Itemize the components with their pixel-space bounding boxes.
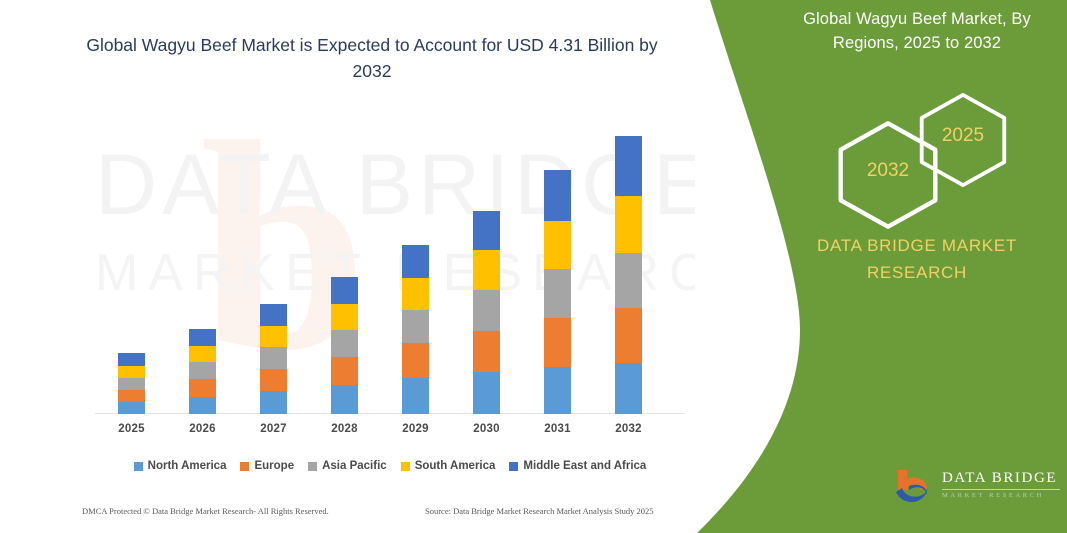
legend-label: Asia Pacific <box>322 460 387 472</box>
bar-2026 <box>189 329 216 414</box>
bar-segment <box>260 391 287 414</box>
legend-swatch-icon <box>308 462 317 471</box>
legend-label: Europe <box>254 460 294 472</box>
bar-segment <box>402 310 429 343</box>
bar-segment <box>331 277 358 304</box>
bar-segment <box>189 362 216 379</box>
bar-segment <box>260 369 287 391</box>
brand-line-2: RESEARCH <box>757 259 1067 286</box>
bar-segment <box>473 372 500 414</box>
legend-item-europe[interactable]: Europe <box>240 460 294 472</box>
bar-segment <box>615 196 642 253</box>
bar-segment <box>473 331 500 372</box>
green-panel-title: Global Wagyu Beef Market, By Regions, 20… <box>782 8 1052 56</box>
bar-segment <box>331 385 358 414</box>
bar-2027 <box>260 304 287 414</box>
logo-sub-text: MARKET RESEARCH <box>942 492 1060 499</box>
legend-label: North America <box>148 460 227 472</box>
legend-swatch-icon <box>509 462 518 471</box>
x-axis-label-2031: 2031 <box>528 423 588 435</box>
brand-line-1: DATA BRIDGE MARKET <box>757 232 1067 259</box>
legend-label: South America <box>415 460 496 472</box>
infographic-page: b DATA BRIDGE MARKET RESEARCH Global Wag… <box>0 0 1067 533</box>
chart-legend: North AmericaEuropeAsia PacificSouth Ame… <box>95 456 685 476</box>
logo-main-text: DATA BRIDGE <box>942 470 1060 487</box>
green-panel-content: Global Wagyu Beef Market, By Regions, 20… <box>687 0 1067 533</box>
x-axis-label-2026: 2026 <box>173 423 233 435</box>
legend-label: Middle East and Africa <box>523 460 646 472</box>
data-bridge-logo: DATA BRIDGE MARKET RESEARCH <box>892 462 1062 514</box>
hexagon-2025: 2025 <box>915 92 1011 188</box>
bar-2032 <box>615 136 642 414</box>
bar-segment <box>189 346 216 362</box>
bar-segment <box>615 136 642 196</box>
bar-segment <box>473 211 500 250</box>
hexagon-2025-label: 2025 <box>915 125 1011 147</box>
stacked-bar-chart <box>95 118 685 414</box>
bar-segment <box>473 250 500 290</box>
bar-segment <box>473 290 500 331</box>
x-axis-label-2029: 2029 <box>386 423 446 435</box>
bar-segment <box>615 363 642 414</box>
bar-segment <box>331 304 358 330</box>
bar-segment <box>402 245 429 278</box>
bar-segment <box>118 402 145 414</box>
x-axis-labels: 20252026202720282029203020312032 <box>95 423 685 443</box>
bar-segment <box>118 366 145 378</box>
bar-segment <box>544 269 571 318</box>
footer-copyright: DMCA Protected © Data Bridge Market Rese… <box>82 506 329 516</box>
legend-item-north-america[interactable]: North America <box>134 460 227 472</box>
bar-2029 <box>402 245 429 414</box>
x-axis-label-2032: 2032 <box>599 423 659 435</box>
bar-segment <box>260 347 287 369</box>
footer-source: Source: Data Bridge Market Research Mark… <box>425 506 654 516</box>
chart-title: Global Wagyu Beef Market is Expected to … <box>72 32 672 85</box>
bar-2025 <box>118 353 145 414</box>
data-bridge-logo-icon <box>892 466 936 510</box>
bar-2030 <box>473 211 500 414</box>
bar-segment <box>544 221 571 269</box>
bar-segment <box>260 304 287 326</box>
bar-2031 <box>544 170 571 414</box>
legend-item-middle-east-and-africa[interactable]: Middle East and Africa <box>509 460 646 472</box>
x-axis-label-2030: 2030 <box>457 423 517 435</box>
logo-divider <box>942 489 1060 490</box>
legend-swatch-icon <box>401 462 410 471</box>
bar-segment <box>615 308 642 363</box>
hexagon-group: 2032 2025 <box>797 92 1047 222</box>
bar-segment <box>260 326 287 347</box>
legend-swatch-icon <box>134 462 143 471</box>
legend-swatch-icon <box>240 462 249 471</box>
brand-wordmark: DATA BRIDGE MARKET RESEARCH <box>757 232 1067 286</box>
bar-segment <box>118 390 145 402</box>
bar-segment <box>615 253 642 308</box>
legend-item-asia-pacific[interactable]: Asia Pacific <box>308 460 387 472</box>
bar-segment <box>402 378 429 414</box>
bar-segment <box>189 329 216 346</box>
bar-segment <box>544 318 571 367</box>
bar-segment <box>118 353 145 366</box>
bar-segment <box>402 278 429 310</box>
bar-segment <box>189 379 216 397</box>
x-axis-label-2025: 2025 <box>102 423 162 435</box>
x-axis-label-2027: 2027 <box>244 423 304 435</box>
bar-segment <box>118 378 145 390</box>
bar-segment <box>331 330 358 357</box>
bar-segment <box>402 343 429 378</box>
bar-segment <box>331 357 358 385</box>
data-bridge-logo-text: DATA BRIDGE MARKET RESEARCH <box>942 470 1060 499</box>
legend-item-south-america[interactable]: South America <box>401 460 496 472</box>
bar-2028 <box>331 277 358 414</box>
bar-segment <box>544 367 571 414</box>
x-axis-label-2028: 2028 <box>315 423 375 435</box>
bar-segment <box>189 397 216 414</box>
footer: DMCA Protected © Data Bridge Market Rese… <box>0 506 700 526</box>
bar-segment <box>544 170 571 221</box>
